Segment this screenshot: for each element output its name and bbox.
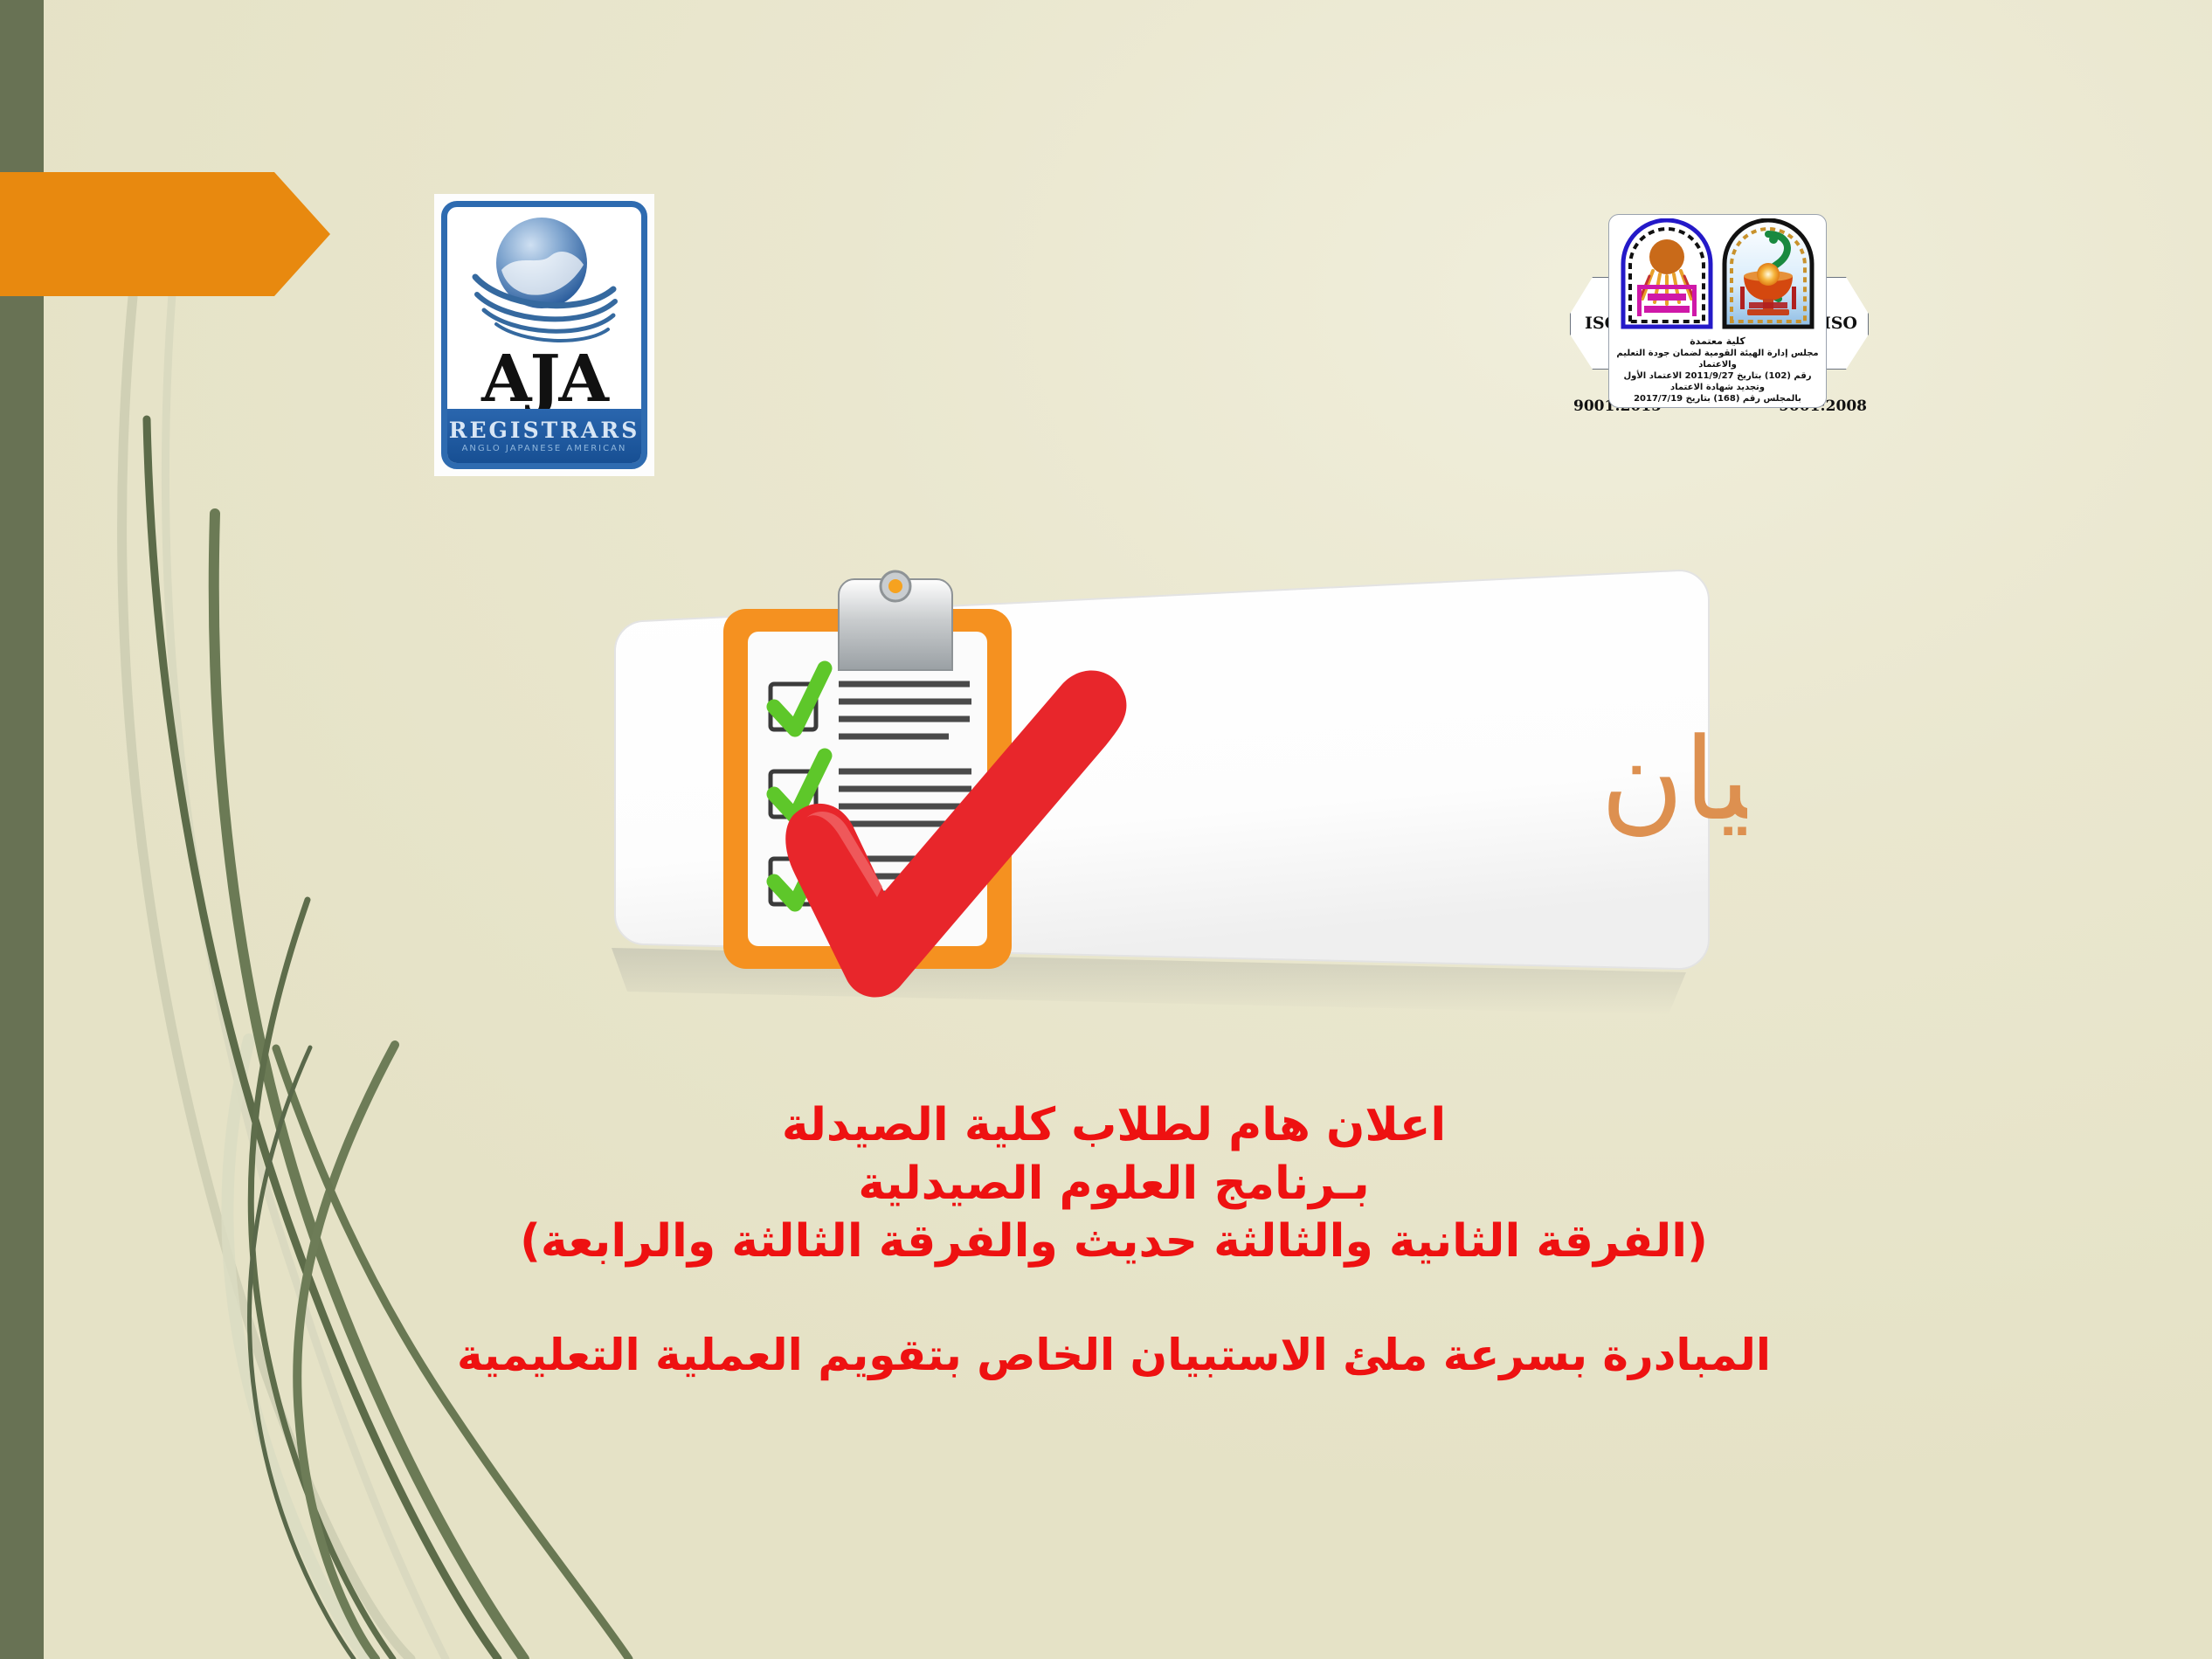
accreditation-text-block: كلية معتمدة مجلس إدارة الهيئة القومية لض… [1614, 335, 1821, 404]
accreditation-iso-seal: ISO 9001:2015 ISO 9001:2008 [1570, 214, 1869, 424]
questionnaire-illustration: استبيان [577, 537, 1747, 1027]
accreditation-line-4: بالمجلس رقم (168) بتاريخ 2017/7/19 [1614, 393, 1821, 404]
accreditation-line-3: وتجديد شهادة الاعتماد [1614, 382, 1821, 393]
accreditation-line-1: مجلس إدارة الهيئة القومية لضمان جودة الت… [1614, 348, 1821, 370]
announcement-text-block: اعلان هام لطلاب كلية الصيدلة بـرنامج الع… [218, 1096, 2009, 1383]
faculty-of-pharmacy-emblem [1719, 218, 1817, 334]
aja-wordmark: AJA [481, 347, 607, 411]
accreditation-line-0: كلية معتمدة [1614, 335, 1821, 348]
aja-registrars-label: REGISTRARS [449, 419, 640, 441]
accreditation-line-2: رقم (102) بتاريخ 2011/9/27 الاعتماد الأو… [1614, 370, 1821, 382]
announcement-line-2: (الفرقة الثانية والثالثة حديث والفرقة ال… [218, 1213, 2009, 1271]
announcement-line-0: اعلان هام لطلاب كلية الصيدلة [218, 1096, 2009, 1155]
orange-arrow-banner [0, 172, 330, 296]
presentation-slide: AJA REGISTRARS ANGLO JAPANESE AMERICAN I… [0, 0, 2212, 1659]
aja-subtext-label: ANGLO JAPANESE AMERICAN [462, 445, 627, 453]
announcement-call-to-action: المبادرة بسرعة ملئ الاستبيان الخاص بتقوي… [218, 1327, 2009, 1383]
announcement-spacer [218, 1271, 2009, 1327]
announcement-line-1: بـرنامج العلوم الصيدلية [218, 1155, 2009, 1213]
questionnaire-label: استبيان [1600, 713, 1747, 846]
aja-registrars-logo: AJA REGISTRARS ANGLO JAPANESE AMERICAN [434, 194, 654, 476]
globe-icon [447, 214, 641, 345]
iso-right-label: ISO [1823, 314, 1857, 333]
assiut-university-emblem [1618, 218, 1716, 334]
